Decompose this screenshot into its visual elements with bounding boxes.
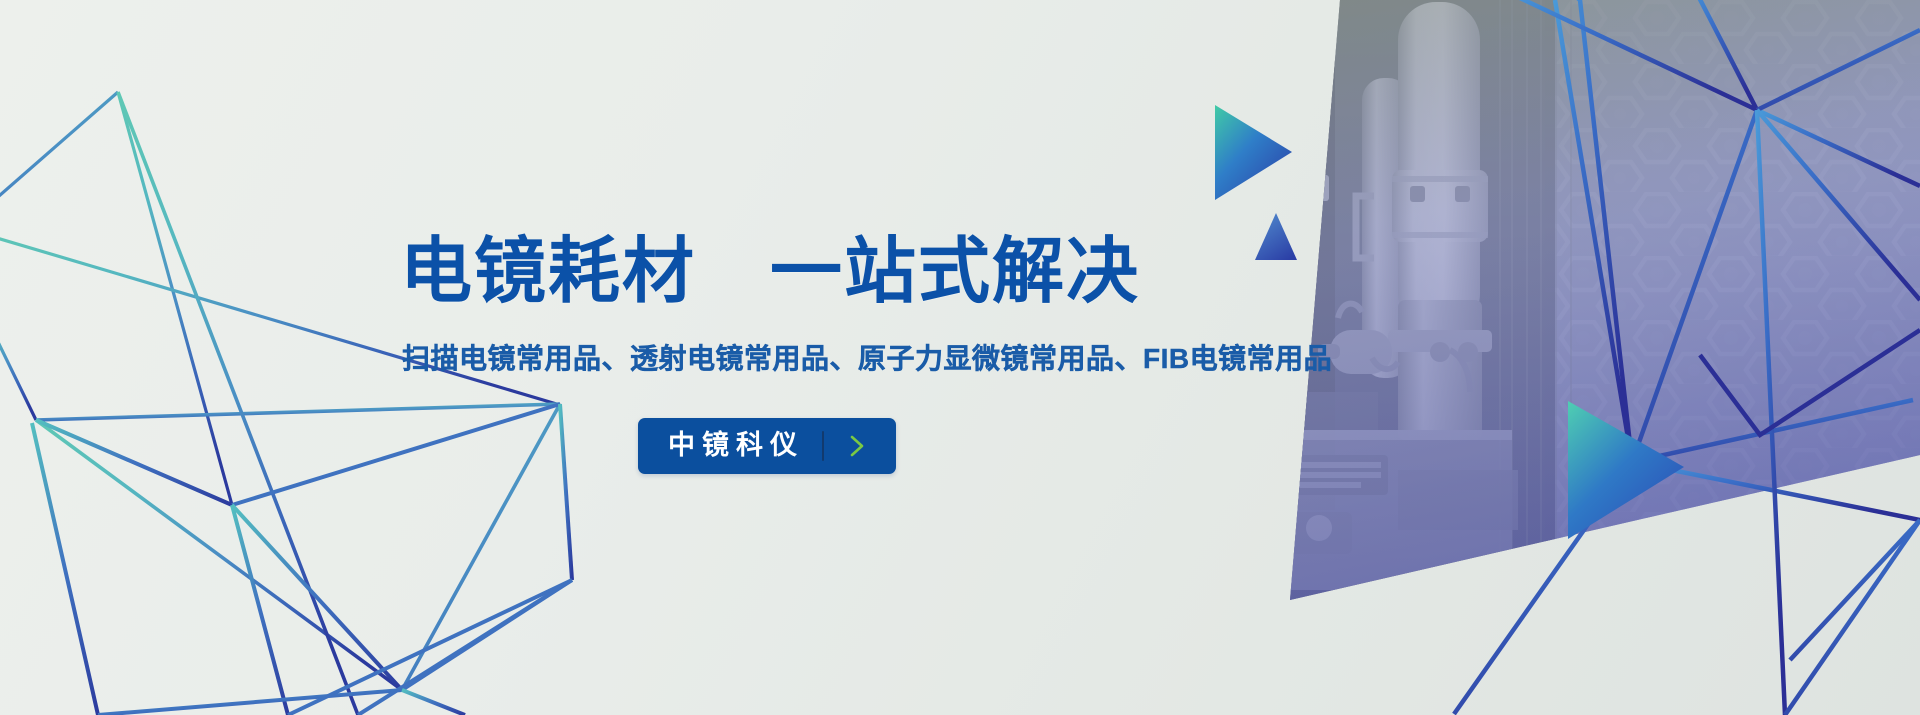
triangle-right-top-icon: [1215, 105, 1292, 200]
chevron-right-icon: [844, 433, 870, 459]
hero-banner: 电镜耗材 一站式解决 扫描电镜常用品、透射电镜常用品、原子力显微镜常用品、FIB…: [0, 0, 1920, 715]
hero-content: 电镜耗材 一站式解决 扫描电镜常用品、透射电镜常用品、原子力显微镜常用品、FIB…: [400, 236, 1300, 474]
cta-button-label: 中镜科仪: [668, 432, 818, 459]
cta-divider: [822, 431, 824, 461]
page-title: 电镜耗材 一站式解决: [400, 236, 1300, 308]
cta-button[interactable]: 中镜科仪: [638, 418, 896, 474]
page-subtitle: 扫描电镜常用品、透射电镜常用品、原子力显微镜常用品、FIB电镜常用品: [402, 342, 1300, 376]
triangle-right-bottom-icon: [1568, 401, 1684, 539]
